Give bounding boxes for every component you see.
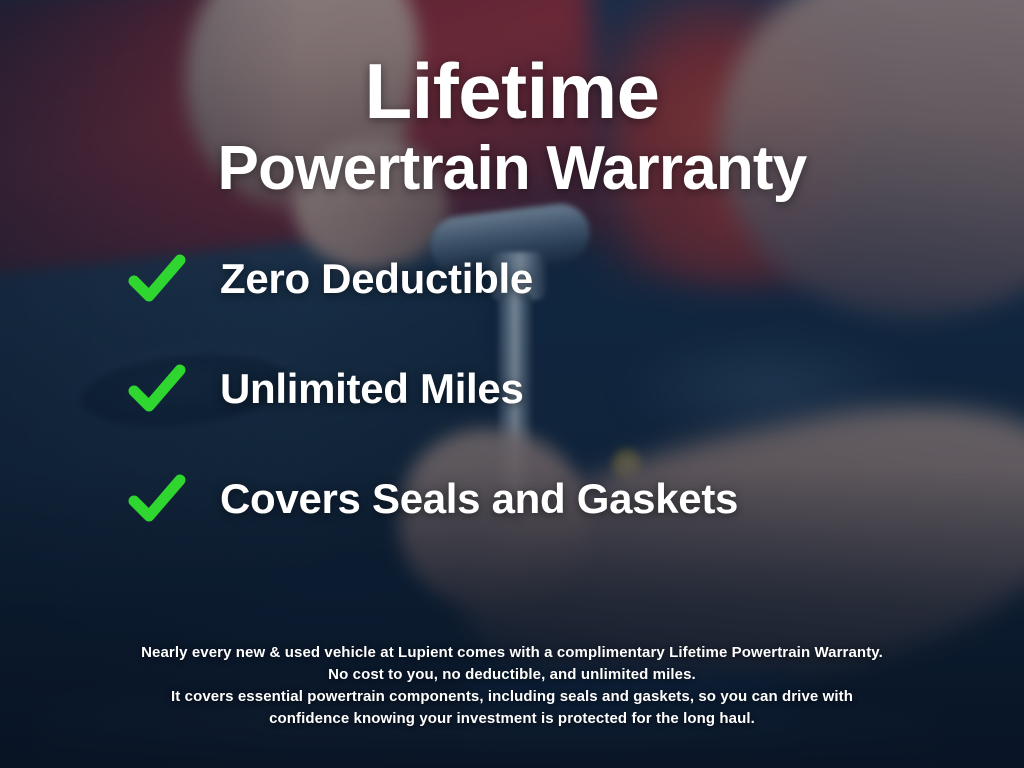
feature-label: Zero Deductible [220, 255, 533, 303]
headline-line-2: Powertrain Warranty [0, 138, 1024, 200]
headline-line-1: Lifetime [0, 52, 1024, 130]
warranty-promo-banner: Lifetime Powertrain Warranty Zero Deduct… [0, 0, 1024, 768]
footer-line-1: Nearly every new & used vehicle at Lupie… [24, 642, 1000, 664]
footer-line-4: confidence knowing your investment is pr… [24, 708, 1000, 730]
check-icon [128, 250, 186, 308]
feature-item-covers-seals-and-gaskets: Covers Seals and Gaskets [128, 470, 1024, 528]
feature-list: Zero Deductible Unlimited Miles Covers S… [0, 250, 1024, 528]
check-icon [128, 360, 186, 418]
footer-description: Nearly every new & used vehicle at Lupie… [0, 642, 1024, 730]
feature-item-unlimited-miles: Unlimited Miles [128, 360, 1024, 418]
footer-line-2: No cost to you, no deductible, and unlim… [24, 664, 1000, 686]
feature-item-zero-deductible: Zero Deductible [128, 250, 1024, 308]
feature-label: Unlimited Miles [220, 365, 524, 413]
feature-label: Covers Seals and Gaskets [220, 475, 738, 523]
footer-line-3: It covers essential powertrain component… [24, 686, 1000, 708]
banner-content: Lifetime Powertrain Warranty Zero Deduct… [0, 0, 1024, 768]
check-icon [128, 470, 186, 528]
